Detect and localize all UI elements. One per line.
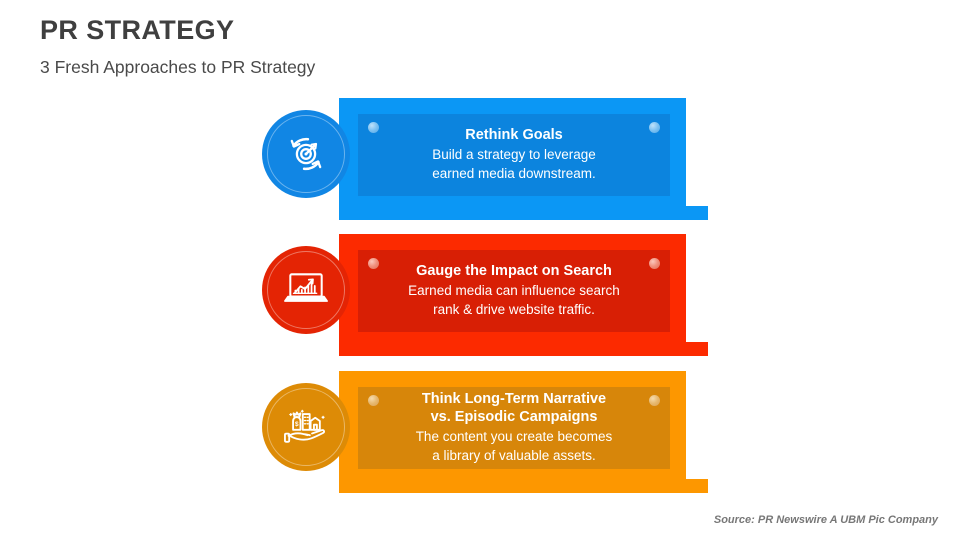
card-description-line-2: earned media downstream. xyxy=(432,166,596,183)
hand-money-buildings-icon: $ xyxy=(282,405,330,449)
slide-canvas: PR STRATEGY 3 Fresh Approaches to PR Str… xyxy=(0,0,960,540)
screw-icon xyxy=(649,395,660,406)
card-inner-plate: Rethink Goals Build a strategy to levera… xyxy=(358,114,670,196)
card-panel-bottom-step xyxy=(339,342,708,356)
slide-header: PR STRATEGY 3 Fresh Approaches to PR Str… xyxy=(40,16,740,77)
card-description-line-2: rank & drive website traffic. xyxy=(433,302,595,319)
card-icon-badge[interactable] xyxy=(262,246,350,334)
card-inner-plate: Think Long-Term Narrative vs. Episodic C… xyxy=(358,387,670,469)
card-description-line-1: Build a strategy to leverage xyxy=(432,147,596,164)
page-subtitle: 3 Fresh Approaches to PR Strategy xyxy=(40,58,740,77)
screw-icon xyxy=(649,122,660,133)
screw-icon xyxy=(368,122,379,133)
strategy-card-long-term-narrative[interactable]: Think Long-Term Narrative vs. Episodic C… xyxy=(262,371,722,497)
card-description-line-2: a library of valuable assets. xyxy=(432,448,596,465)
card-title: Rethink Goals xyxy=(465,127,563,145)
screw-icon xyxy=(368,258,379,269)
screw-icon xyxy=(649,258,660,269)
strategy-card-rethink-goals[interactable]: Rethink Goals Build a strategy to levera… xyxy=(262,98,722,224)
card-inner-plate: Gauge the Impact on Search Earned media … xyxy=(358,250,670,332)
card-description-line-1: Earned media can influence search xyxy=(408,283,620,300)
laptop-growth-chart-icon xyxy=(282,268,330,312)
strategy-card-gauge-impact[interactable]: Gauge the Impact on Search Earned media … xyxy=(262,234,722,360)
card-panel-bottom-step xyxy=(339,206,708,220)
screw-icon xyxy=(368,395,379,406)
card-icon-badge[interactable] xyxy=(262,110,350,198)
source-attribution: Source: PR Newswire A UBM Pic Company xyxy=(714,514,938,526)
card-title-line-2: vs. Episodic Campaigns xyxy=(431,409,598,427)
page-title: PR STRATEGY xyxy=(40,16,740,46)
card-icon-badge[interactable]: $ xyxy=(262,383,350,471)
card-panel-bottom-step xyxy=(339,479,708,493)
card-title: Gauge the Impact on Search xyxy=(416,263,612,281)
target-arrow-refresh-icon xyxy=(283,131,329,177)
card-title-line-1: Think Long-Term Narrative xyxy=(422,391,606,409)
svg-text:$: $ xyxy=(295,421,299,428)
card-description-line-1: The content you create becomes xyxy=(416,429,613,446)
